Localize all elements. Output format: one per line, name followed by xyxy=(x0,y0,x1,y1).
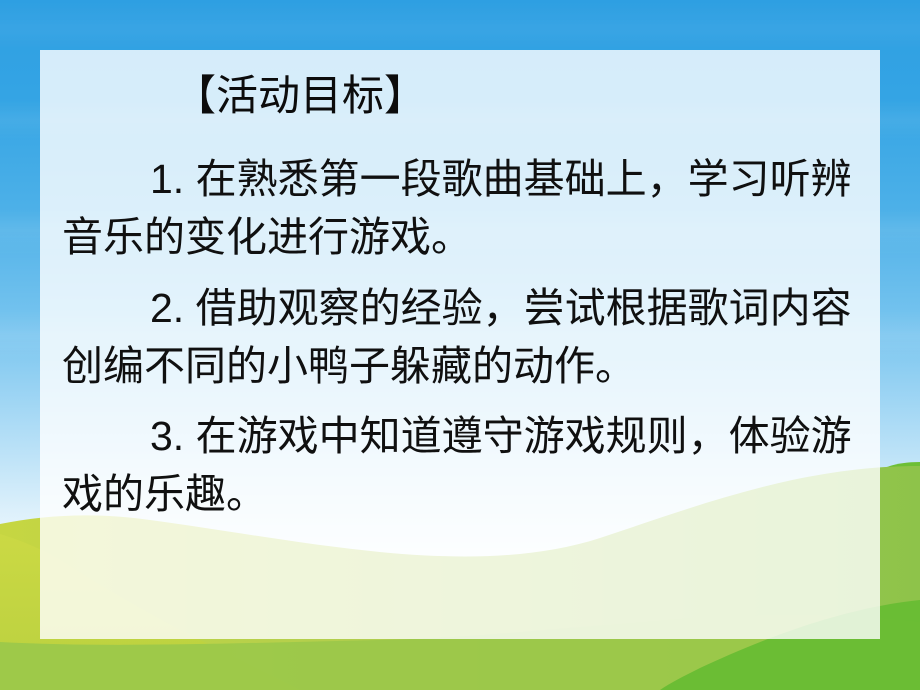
slide-canvas: 【活动目标】 1. 在熟悉第一段歌曲基础上，学习听辨音乐的变化进行游戏。 2. … xyxy=(0,0,920,690)
goal-item-2: 2. 借助观察的经验，尝试根据歌词内容创编不同的小鸭子躲藏的动作。 xyxy=(62,279,858,395)
goal-item-3: 3. 在游戏中知道遵守游戏规则，体验游戏的乐趣。 xyxy=(62,407,858,523)
goal-item-1: 1. 在熟悉第一段歌曲基础上，学习听辨音乐的变化进行游戏。 xyxy=(62,150,858,266)
content-panel: 【活动目标】 1. 在熟悉第一段歌曲基础上，学习听辨音乐的变化进行游戏。 2. … xyxy=(40,50,880,639)
content-panel-body: 【活动目标】 1. 在熟悉第一段歌曲基础上，学习听辨音乐的变化进行游戏。 2. … xyxy=(40,50,880,639)
page-title: 【活动目标】 xyxy=(174,74,858,118)
